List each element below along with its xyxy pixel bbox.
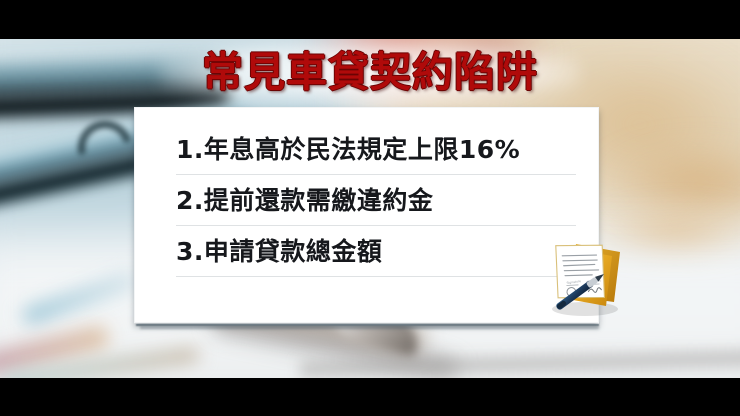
headline-container: 常見車貸契約陷阱: [0, 44, 740, 100]
loan-trap-list: 1.年息高於民法規定上限16% 2.提前還款需繳違約金 3.申請貸款總金額: [176, 124, 576, 277]
contract-document-pen-icon: Signature Signature: [540, 230, 626, 320]
list-item-label: 2.提前還款需繳違約金: [176, 188, 433, 213]
page-title: 常見車貸契約陷阱: [202, 52, 538, 93]
letterbox-bar-top: [0, 0, 740, 39]
broadcast-graphic-frame: 常見車貸契約陷阱 1.年息高於民法規定上限16% 2.提前還款需繳違約金 3.申…: [0, 0, 740, 416]
list-item[interactable]: 1.年息高於民法規定上限16%: [176, 124, 576, 175]
list-item-label: 3.申請貸款總金額: [176, 239, 382, 264]
letterbox-bar-bottom: [0, 378, 740, 416]
list-item[interactable]: 3.申請貸款總金額: [176, 226, 576, 277]
list-item[interactable]: 2.提前還款需繳違約金: [176, 175, 576, 226]
content-card: 1.年息高於民法規定上限16% 2.提前還款需繳違約金 3.申請貸款總金額: [134, 107, 599, 323]
list-item-label: 1.年息高於民法規定上限16%: [176, 137, 520, 162]
card-drop-shadow: [140, 326, 599, 329]
